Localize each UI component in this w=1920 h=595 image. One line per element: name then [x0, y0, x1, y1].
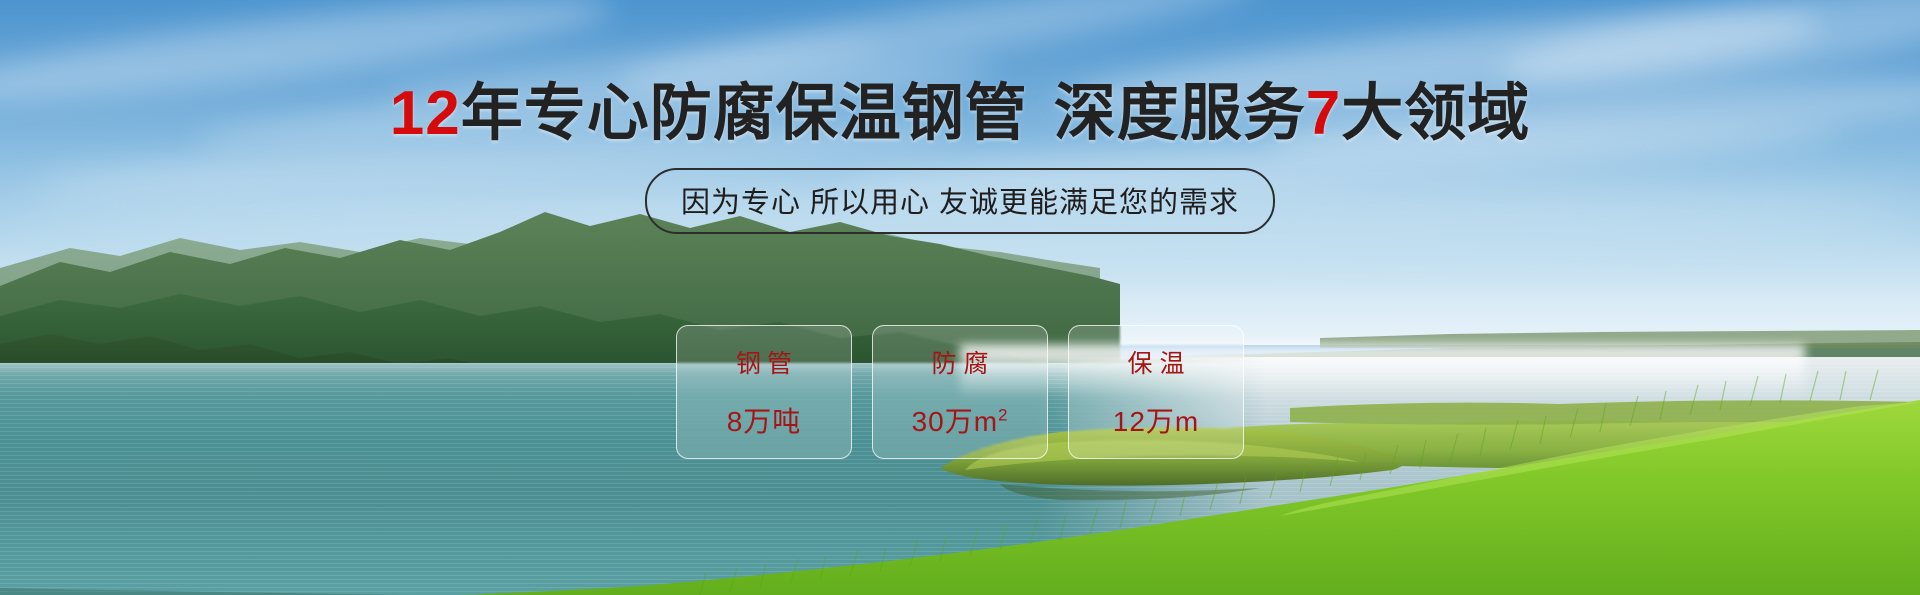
- stat-card-label: 保温: [1120, 344, 1191, 380]
- stat-card-anticorrosion[interactable]: 防腐 30万m2: [872, 325, 1048, 459]
- stat-card-value-superscript: 2: [998, 406, 1008, 425]
- stat-cards: 钢管 8万吨 防腐 30万m2 保温 12万m: [0, 325, 1920, 459]
- stat-card-value: 8万吨: [727, 400, 802, 440]
- stat-card-value-main: 12万m: [1113, 406, 1199, 437]
- headline-text-fields: 大领域: [1341, 79, 1530, 148]
- headline-text-primary: 年专心防腐保温钢管: [461, 79, 1028, 148]
- stat-card-label: 防腐: [924, 344, 995, 380]
- stat-card-steel-pipe[interactable]: 钢管 8万吨: [676, 325, 852, 459]
- subtitle-container: 因为专心 所以用心 友诚更能满足您的需求: [0, 168, 1920, 234]
- headline-number-years: 12: [390, 79, 461, 148]
- headline-number-fields: 7: [1306, 79, 1341, 148]
- stat-card-value: 30万m2: [912, 400, 1009, 440]
- stat-card-value: 12万m: [1113, 400, 1199, 440]
- headline-text-service: 深度服务: [1054, 79, 1306, 148]
- headline: 12年专心防腐保温钢管深度服务7大领域: [0, 83, 1920, 145]
- stat-card-value-main: 8万吨: [727, 406, 802, 437]
- hero-banner: 12年专心防腐保温钢管深度服务7大领域 因为专心 所以用心 友诚更能满足您的需求…: [0, 0, 1920, 595]
- subtitle-pill: 因为专心 所以用心 友诚更能满足您的需求: [645, 168, 1275, 234]
- banner-content: 12年专心防腐保温钢管深度服务7大领域 因为专心 所以用心 友诚更能满足您的需求…: [0, 0, 1920, 595]
- stat-card-label: 钢管: [730, 344, 798, 380]
- stat-card-value-main: 30万m: [912, 406, 998, 437]
- stat-card-insulation[interactable]: 保温 12万m: [1068, 325, 1244, 459]
